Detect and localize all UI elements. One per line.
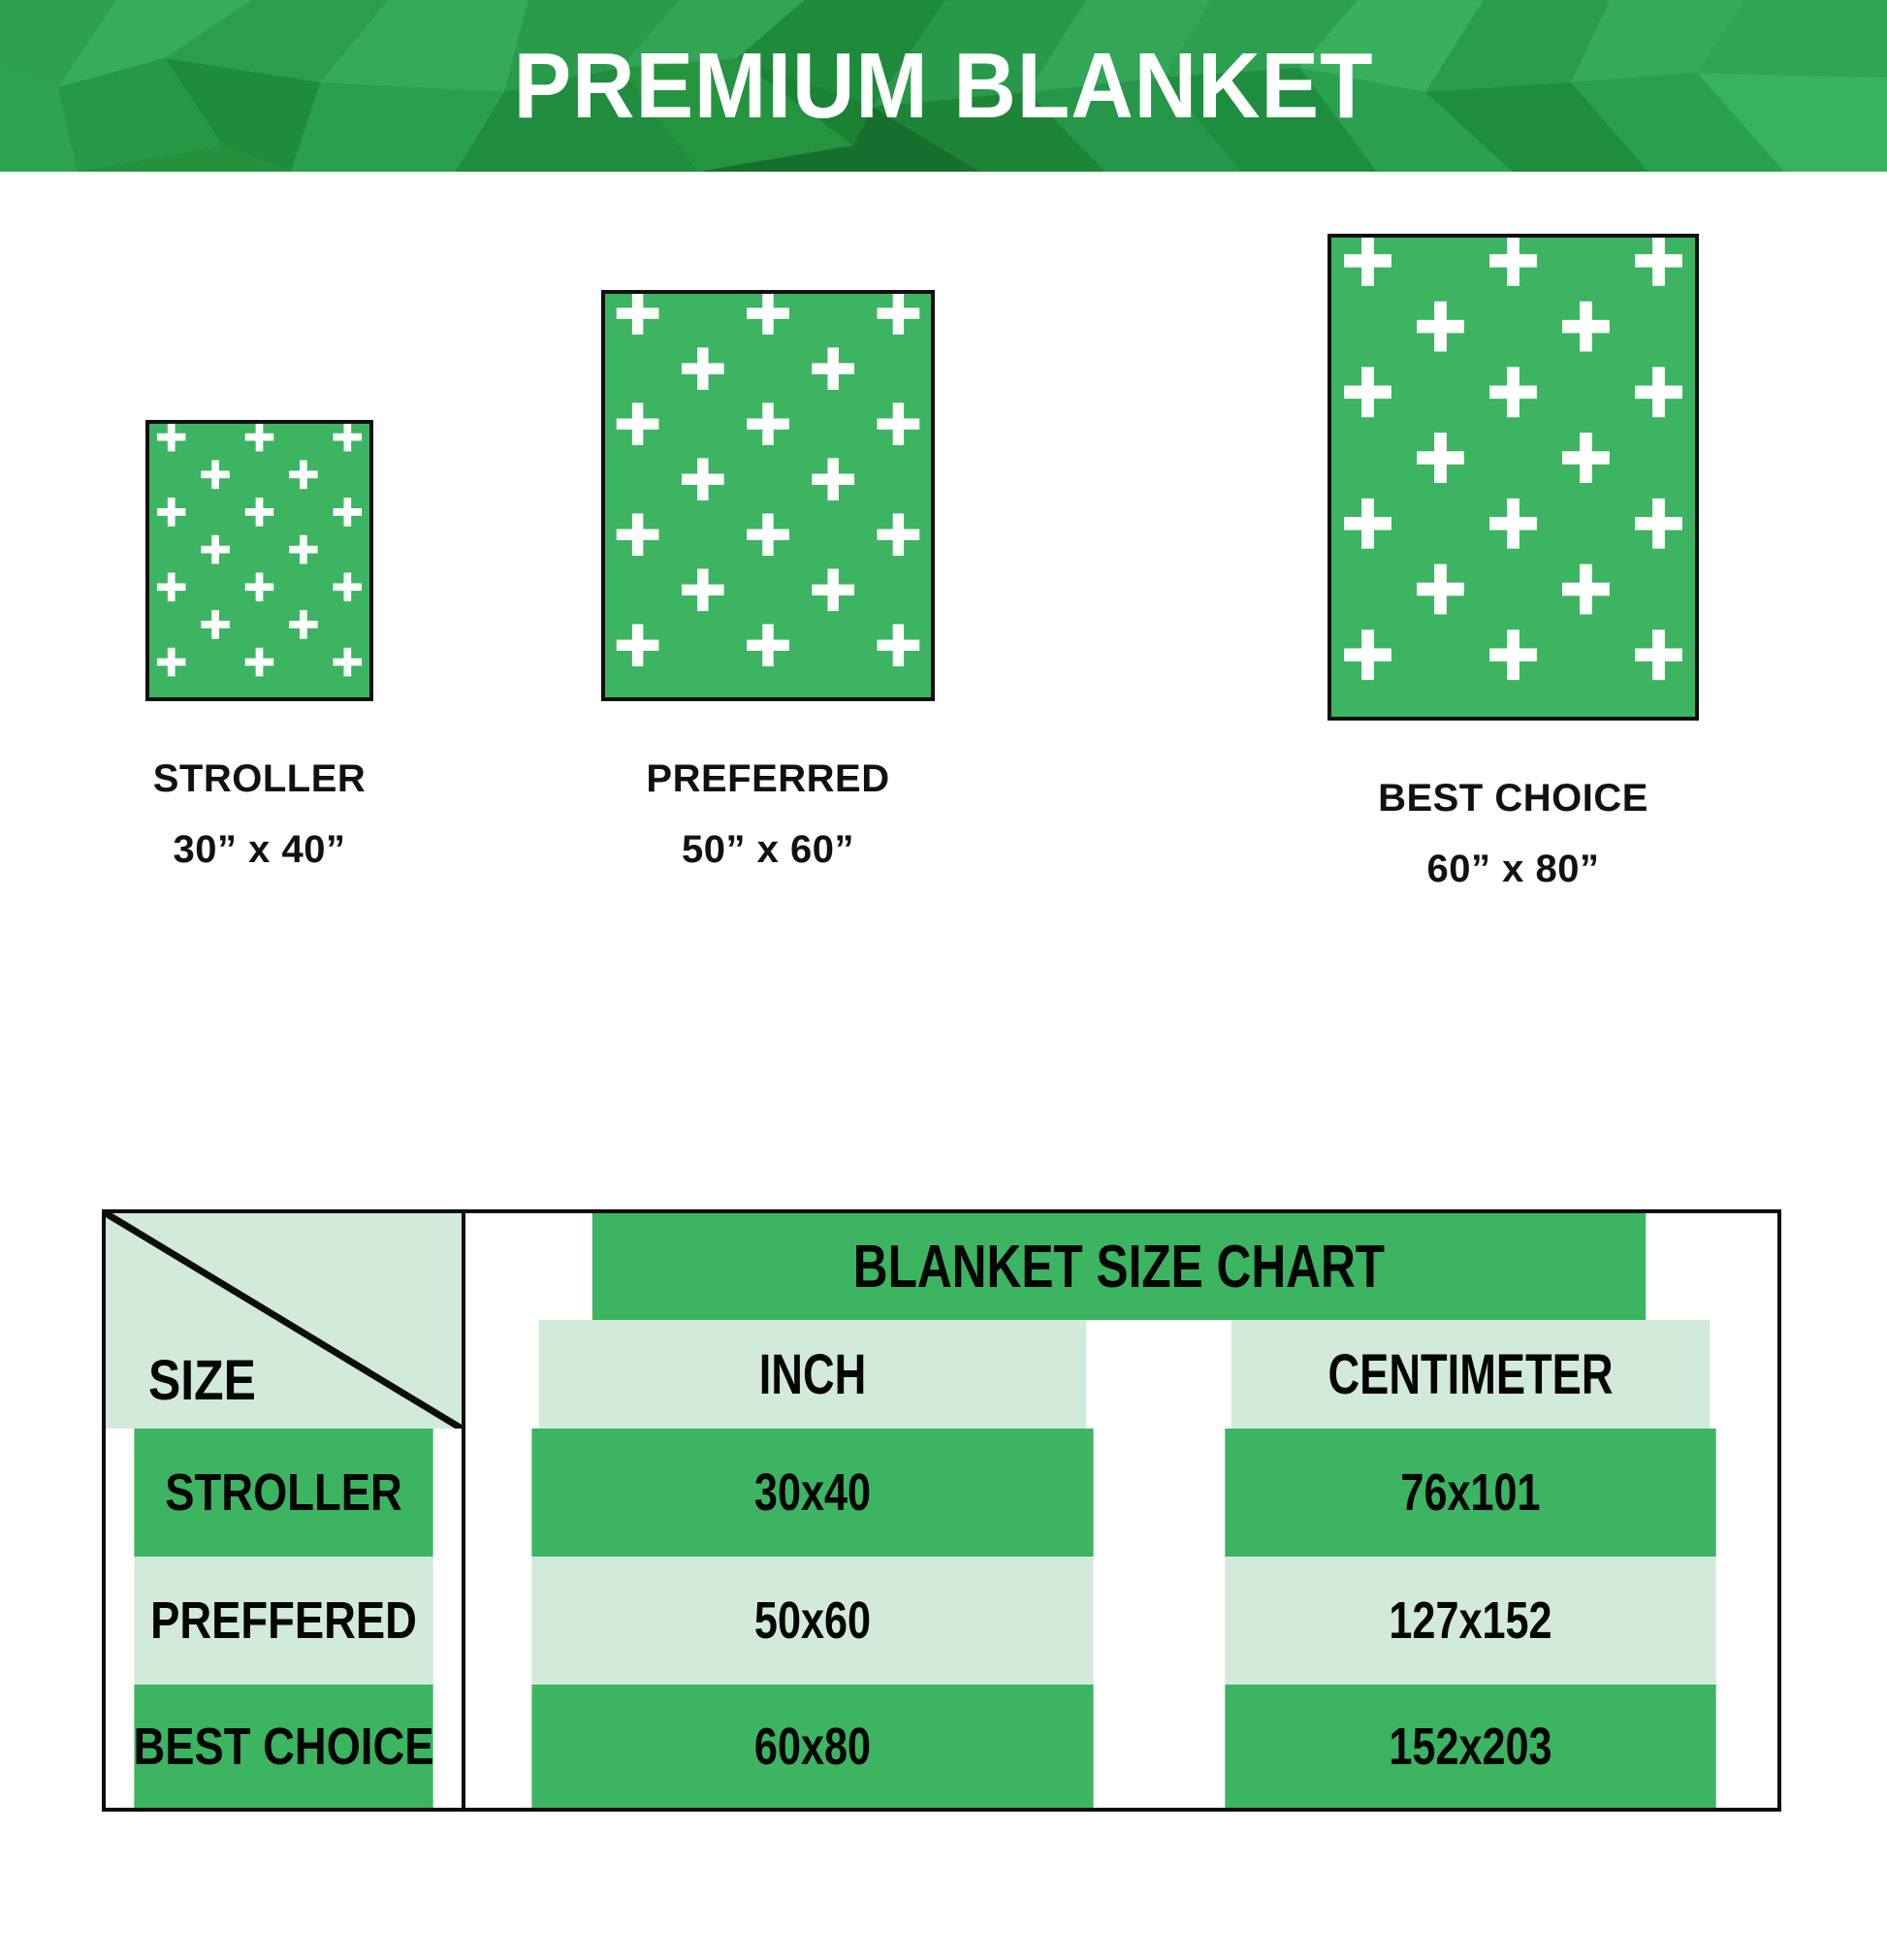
- swatch-row: STROLLER 30” x 40”: [0, 172, 1887, 1141]
- swatch-group-best-choice: BEST CHOICE 60” x 80”: [1327, 172, 1699, 891]
- row-inch-preffered: 50x60: [531, 1557, 1093, 1685]
- blanket-swatch-preferred: [601, 290, 935, 701]
- blanket-swatch-stroller: [145, 420, 373, 701]
- header-banner: PREMIUM BLANKET: [0, 0, 1887, 172]
- row-label-best-choice: BEST CHOICE: [134, 1685, 432, 1808]
- corner-label-size: SIZE: [148, 1348, 256, 1413]
- cross-pattern-icon: [1331, 238, 1695, 717]
- swatch-dimensions-stroller: 30” x 40”: [145, 828, 373, 872]
- table-corner-cell: SIZE: [106, 1213, 462, 1429]
- swatch-label-stroller: STROLLER: [145, 757, 373, 801]
- swatch-label-preferred: PREFERRED: [601, 757, 935, 801]
- row-cm-best-choice: 152x203: [1225, 1685, 1715, 1808]
- row-inch-best-choice: 60x80: [531, 1685, 1093, 1808]
- table-row: BEST CHOICE 60x80 152x203: [106, 1685, 1777, 1808]
- table-row: PREFFERED 50x60 127x152: [106, 1557, 1777, 1685]
- blanket-swatch-best-choice: [1327, 234, 1699, 721]
- row-inch-stroller: 30x40: [531, 1429, 1093, 1557]
- blanket-size-chart-table: BLANKET SIZE CHART INCH CENTIMETER STROL…: [102, 1209, 1781, 1812]
- page-title: PREMIUM BLANKET: [66, 0, 1821, 172]
- cross-pattern-icon: [149, 424, 369, 697]
- swatch-group-stroller: STROLLER 30” x 40”: [145, 172, 373, 872]
- column-divider: [462, 1213, 465, 1808]
- table-title: BLANKET SIZE CHART: [592, 1213, 1646, 1320]
- column-header-inch: INCH: [539, 1320, 1087, 1429]
- swatch-label-best-choice: BEST CHOICE: [1327, 777, 1699, 820]
- swatch-group-preferred: PREFERRED 50” x 60”: [601, 172, 935, 872]
- swatch-dimensions-best-choice: 60” x 80”: [1327, 848, 1699, 891]
- row-label-stroller: STROLLER: [134, 1429, 432, 1557]
- table-row: STROLLER 30x40 76x101: [106, 1429, 1777, 1557]
- row-cm-preffered: 127x152: [1225, 1557, 1715, 1685]
- swatch-dimensions-preferred: 50” x 60”: [601, 828, 935, 872]
- row-label-preffered: PREFFERED: [134, 1557, 432, 1685]
- cross-pattern-icon: [605, 294, 931, 697]
- row-cm-stroller: 76x101: [1225, 1429, 1715, 1557]
- column-header-centimeter: CENTIMETER: [1231, 1320, 1711, 1429]
